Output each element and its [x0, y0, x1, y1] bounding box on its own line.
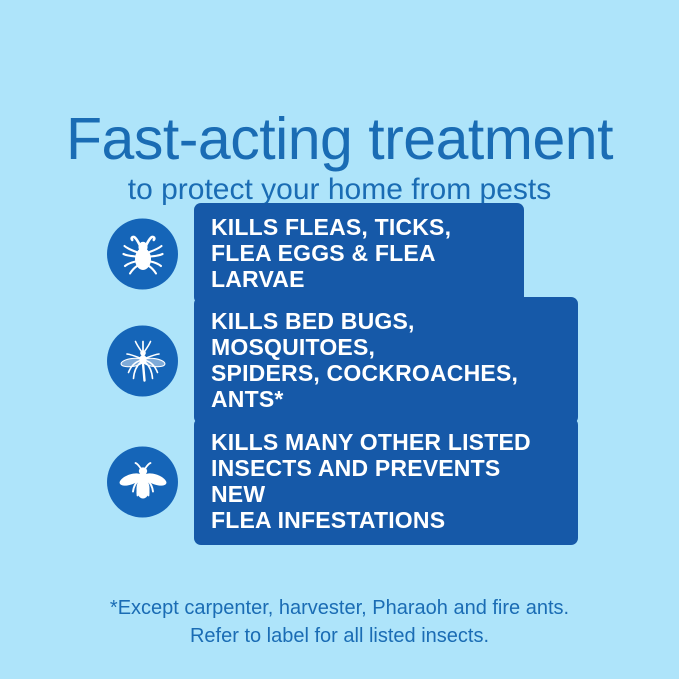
- fly-icon: [118, 457, 168, 507]
- fly-icon-badge: [107, 446, 178, 517]
- feature-row: KILLS FLEAS, TICKS, FLEA EGGS & FLEA LAR…: [0, 222, 679, 285]
- footnote-text: *Except carpenter, harvester, Pharaoh an…: [0, 594, 679, 650]
- tick-icon-badge: [107, 218, 178, 289]
- mosquito-icon-badge: [107, 325, 178, 396]
- feature-banner: KILLS MANY OTHER LISTED INSECTS AND PREV…: [194, 418, 578, 545]
- feature-banner: KILLS FLEAS, TICKS, FLEA EGGS & FLEA LAR…: [194, 203, 524, 304]
- tick-icon: [118, 229, 168, 279]
- heading-block: Fast-acting treatment to protect your ho…: [0, 108, 679, 208]
- mosquito-icon: [117, 335, 169, 387]
- feature-list: KILLS FLEAS, TICKS, FLEA EGGS & FLEA LAR…: [0, 222, 679, 569]
- feature-row: KILLS BED BUGS, MOSQUITOES, SPIDERS, COC…: [0, 329, 679, 392]
- feature-row: KILLS MANY OTHER LISTED INSECTS AND PREV…: [0, 439, 679, 524]
- page-title: Fast-acting treatment: [0, 108, 679, 170]
- feature-banner: KILLS BED BUGS, MOSQUITOES, SPIDERS, COC…: [194, 297, 578, 424]
